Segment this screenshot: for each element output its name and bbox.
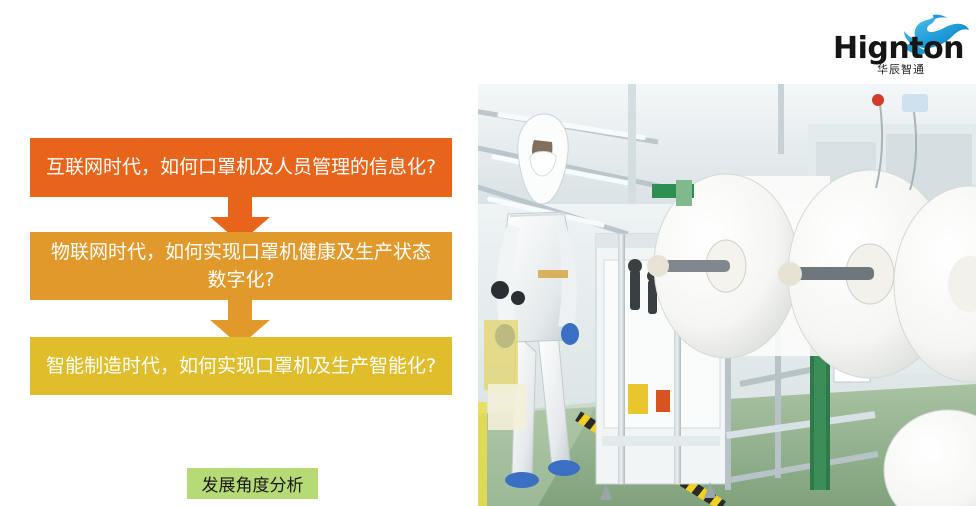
flow-box-iot-era[interactable]: 物联网时代，如何实现口罩机健康及生产状态数字化? — [30, 232, 452, 300]
analysis-caption-tag: 发展角度分析 — [187, 468, 318, 499]
factory-photo — [478, 84, 976, 506]
flow-box-smart-manufacturing-era[interactable]: 智能制造时代，如何实现口罩机及生产智能化? — [30, 337, 452, 395]
slide-canvas: Hignton 华辰智通 互联网时代，如何口罩机及人员管理的信息化? 物联网时代… — [0, 0, 976, 506]
logo-subtext: 华辰智通 — [877, 61, 925, 77]
logo-wordmark: Hignton — [833, 34, 964, 64]
company-logo: Hignton 华辰智通 — [833, 14, 971, 76]
flow-box-internet-era[interactable]: 互联网时代，如何口罩机及人员管理的信息化? — [30, 138, 452, 197]
